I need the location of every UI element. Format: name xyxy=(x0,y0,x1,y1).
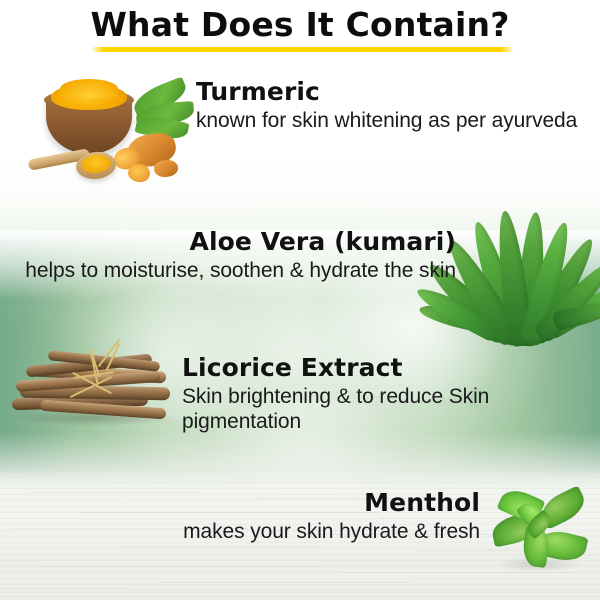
ingredient-row-menthol: Menthol makes your skin hydrate & fresh xyxy=(110,487,480,544)
wood-grain-line xyxy=(160,582,410,583)
turmeric-root-icon xyxy=(153,159,178,178)
wood-plank-seam xyxy=(0,592,600,594)
title-underline-accent xyxy=(91,47,514,52)
ingredient-description: helps to moisturise, soothen & hydrate t… xyxy=(18,258,456,283)
page-title-container: What Does It Contain? xyxy=(0,4,600,46)
ingredient-description: makes your skin hydrate & fresh xyxy=(110,519,480,544)
ingredient-description: known for skin whitening as per ayurveda xyxy=(196,108,586,133)
licorice-roots-image xyxy=(6,352,182,440)
wood-grain-line xyxy=(0,588,130,589)
aloe-vera-plant-image xyxy=(442,196,600,346)
turmeric-bowl-image xyxy=(24,76,194,188)
ingredient-name: Aloe Vera (kumari) xyxy=(18,226,456,257)
ingredient-description: Skin brightening & to reduce Skin pigmen… xyxy=(182,384,582,434)
wood-grain-line xyxy=(40,566,320,567)
ingredients-infographic: What Does It Contain? Turmeric known for… xyxy=(0,0,600,600)
ingredient-name: Licorice Extract xyxy=(182,352,582,383)
mint-leaves-image xyxy=(482,486,594,582)
ingredient-name: Menthol xyxy=(110,487,480,518)
page-title: What Does It Contain? xyxy=(0,4,600,46)
wood-grain-line xyxy=(120,546,320,547)
turmeric-powder-heap xyxy=(60,79,118,99)
ingredient-row-licorice: Licorice Extract Skin brightening & to r… xyxy=(182,352,582,434)
ingredient-row-turmeric: Turmeric known for skin whitening as per… xyxy=(196,76,586,133)
ingredient-name: Turmeric xyxy=(196,76,586,107)
ingredient-row-aloe-vera: Aloe Vera (kumari) helps to moisturise, … xyxy=(18,226,456,283)
